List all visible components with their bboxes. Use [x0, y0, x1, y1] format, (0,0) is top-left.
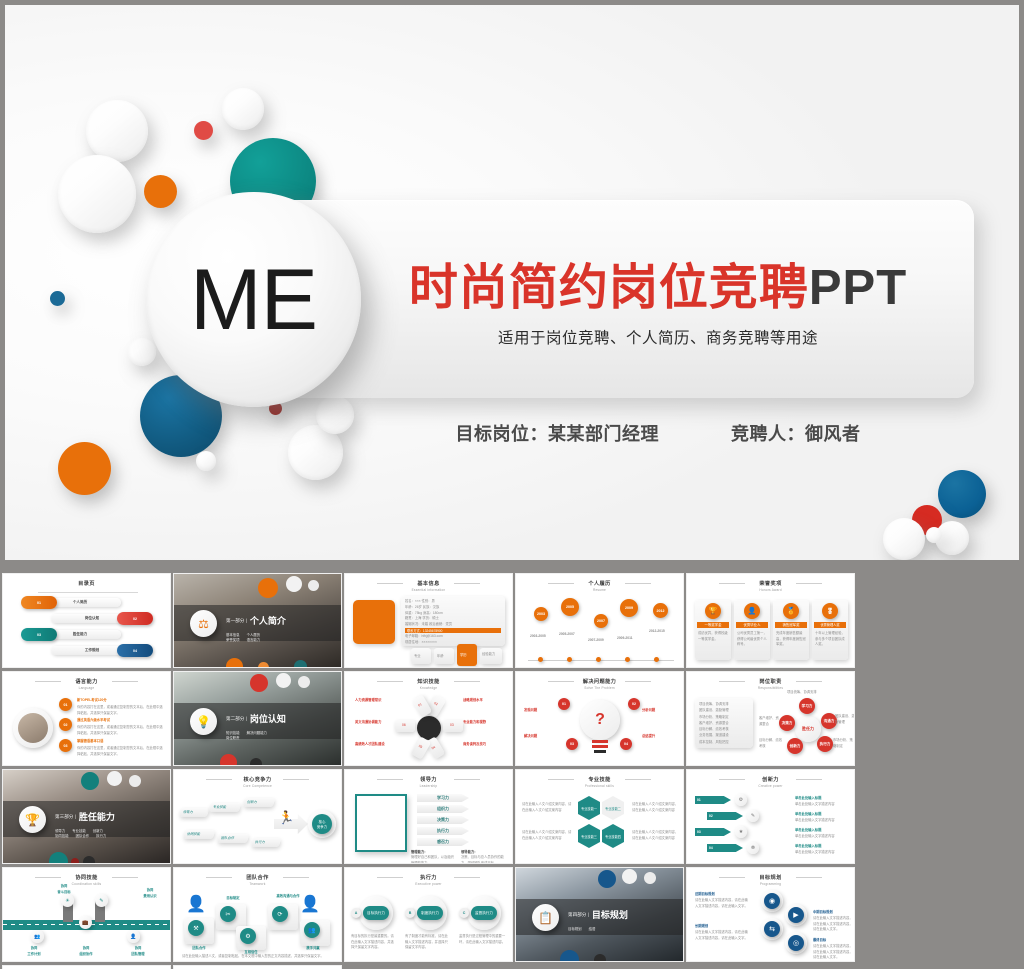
responsibility-note-3: 市场分析、策略制定	[833, 738, 855, 749]
responsibility-title: 岗位职责	[687, 678, 854, 685]
core-step-2[interactable]: 专业技能	[209, 803, 241, 812]
executive-header: 执行力 Executive power	[345, 874, 512, 886]
toc-item-4-label: 工作规划	[85, 648, 99, 653]
leadership-item-1[interactable]: 学习力	[417, 794, 469, 802]
coordination-label-4: 协同 团队管理	[121, 946, 155, 957]
divider-2-name: 岗位认知	[250, 712, 286, 725]
creative-icon-3: ★	[735, 826, 747, 838]
language-num-1: 01	[59, 698, 72, 711]
executive-letter-1: A	[351, 908, 361, 918]
divider-2-bullets: 知识技能解决问题能力 岗位职责	[226, 731, 286, 742]
decor-dot-orange	[258, 578, 278, 598]
resume-range-5: 2012-2015	[649, 629, 673, 635]
basic-tab-1[interactable]: 专业	[411, 648, 431, 664]
coordination-header: 协同技能 Coordination skills	[3, 874, 170, 886]
honors-rule-right	[796, 583, 822, 584]
responsibility-node-5: 决策力	[779, 715, 795, 731]
programming-desc-3: 请在此输入文字描述内容，请在此输入文字描述内容，请在此输入文字。	[695, 930, 751, 941]
teamwork-label-5: 高效沟通与合作	[266, 894, 310, 900]
thumbnail-knowledge[interactable]: 知识技能 Knowledge 02 03 04 05 06 01 人力资源管理常…	[344, 671, 513, 766]
executive-ring-2: 制度执行力	[413, 896, 447, 930]
knowledge-subtitle: Knowledge	[345, 686, 512, 690]
knowledge-petal-2[interactable]: 03	[443, 720, 463, 732]
executive-desc-1: 有目标的执行是最重要的。请在此输入文字描述内容，并选择只保留文字内容。	[351, 934, 397, 951]
problem-node-4: 04	[620, 738, 632, 750]
decor-circle-white-2	[222, 88, 264, 130]
programming-label-1: 近期目标规划	[695, 892, 751, 898]
thumbnail-resume[interactable]: 个人履历 Resume 2003 2005 2007 2009 2012 200…	[515, 573, 684, 668]
executive-rule-right	[454, 877, 480, 878]
honors-icon-4: 🎖	[822, 603, 838, 619]
decor-dot-red-2	[220, 754, 237, 766]
creative-label-3: 单击此处输入标题	[795, 828, 851, 834]
creative-rule-left	[719, 779, 745, 780]
thumbnail-divider-3[interactable]: 🏆 第三部分 |胜任能力 领导力专业技能创新力 协同技能团队合作执行力	[2, 769, 171, 864]
honors-card-4[interactable]: 🎖 优秀管理人奖 十年以上管理经验，参与多个项目团队成人奖。	[812, 600, 848, 660]
core-step-5[interactable]: 团队合作	[217, 834, 249, 843]
problem-node-3: 03	[566, 738, 578, 750]
decor-circle-white-10	[926, 527, 942, 543]
honors-label-3: 销售冠军奖	[775, 622, 807, 628]
programming-rule-left	[719, 877, 745, 878]
me-badge-label: ME	[190, 257, 317, 343]
professional-rule-left	[548, 779, 574, 780]
resume-pin-3: 2007	[594, 614, 608, 628]
creative-label-1: 单击此处输入标题	[795, 796, 851, 802]
decor-circle-blue-2	[938, 470, 986, 518]
basic-rule-right	[454, 583, 480, 584]
divider-4-part: 第四部分 |	[568, 912, 589, 918]
professional-hex-3[interactable]: 专业技能三	[578, 824, 600, 848]
decor-dot-red-1	[250, 674, 268, 692]
coordination-node-4[interactable]: ✎	[95, 894, 108, 907]
language-rule-left	[35, 681, 61, 682]
problem-node-2: 02	[628, 698, 640, 710]
decor-dot-white-f	[129, 775, 141, 787]
programming-node-3[interactable]: ⇆	[761, 918, 783, 940]
core-center: 核心 竞争力	[308, 810, 336, 838]
divider-1-text: 第一部分 |个人简介 基本信息个人履历 荣誉奖项语言能力	[226, 612, 286, 644]
executive-ring-1: 目标执行力	[359, 896, 393, 930]
programming-label-4: 最终目标	[813, 938, 853, 944]
resume-title: 个人履历	[516, 580, 683, 587]
resume-range-2: 2005-2007	[559, 632, 583, 638]
professional-desc-2: 请在此输入人文介绍文案内容，请在此输入人文介绍文案内容	[632, 802, 680, 813]
programming-subtitle: Programming	[687, 882, 854, 886]
leadership-header: 领导力 Leadership	[345, 776, 512, 788]
honors-rule-left	[719, 583, 745, 584]
executive-subtitle: Executive power	[345, 882, 512, 886]
responsibility-note-2: 团队建设、激励管理	[835, 714, 855, 725]
problem-title: 解决问题能力	[516, 678, 683, 685]
teamwork-note: 请在此处输入描述人文，或者复制粘贴。在本文框中输入您的正文内容描述，并选择只保留…	[182, 954, 334, 960]
thumbnail-problem[interactable]: 解决问题能力 Solve The Problem ? 01 02 03 04 发…	[515, 671, 684, 766]
responsibility-node-3: 执行力	[817, 736, 833, 752]
responsibility-rule-left	[719, 681, 745, 682]
decor-dot-white-b	[308, 580, 319, 591]
meta-position: 目标岗位：某某部门经理	[456, 420, 660, 446]
executive-badge-2: 制度执行力	[417, 906, 443, 920]
cup-icon: ⚖	[190, 610, 217, 637]
decor-dot-white-h	[644, 872, 656, 884]
professional-desc-3: 请在此输入人文介绍文案内容，请在此输入人文介绍文案内容	[522, 830, 572, 841]
programming-icon-3: ⇆	[764, 921, 780, 937]
creative-subtitle: Creative power	[687, 784, 854, 788]
honors-desc-1: 成绩优异，获得校级一等奖学金。	[698, 631, 728, 642]
knowledge-label-2: 专业能力和视野	[463, 720, 507, 726]
decor-circle-white-4	[128, 338, 156, 366]
responsibility-subtitle: Responsibilities	[687, 686, 854, 690]
divider-3-part: 第三部分 |	[55, 814, 76, 820]
knowledge-petal-6[interactable]: 01	[412, 694, 432, 717]
creative-icon-1: ⚙	[735, 794, 747, 806]
core-title: 核心竞争力	[174, 776, 341, 783]
decor-dot-white-e	[107, 771, 122, 786]
language-label-1: 新TOPEL考试120分	[77, 698, 165, 704]
decor-circle-blue-small	[50, 291, 65, 306]
thumbnail-coordination[interactable]: 协同技能 Coordination skills 👥 ☀ 💼 ✎ 👤 协同 工作…	[2, 867, 171, 962]
honors-label-4: 优秀管理人奖	[814, 622, 846, 628]
basic-rows-2: 电子邮箱：hfbj@163.com 现居住地：××××××××	[405, 634, 503, 646]
professional-hex-1[interactable]: 专业技能一	[578, 796, 600, 820]
problem-label-4: 总结提升	[642, 734, 672, 740]
honors-desc-2: 公司优秀员工第一，获得公司级优秀个人称号。	[737, 631, 767, 648]
responsibility-header: 岗位职责 Responsibilities	[687, 678, 854, 690]
knowledge-rule-right	[454, 681, 480, 682]
creative-header: 创新力 Creative power	[687, 776, 854, 788]
decor-circle-orange-1	[144, 175, 177, 208]
resume-rule-left	[548, 583, 574, 584]
language-desc-2: 你的内容打在这里，或者通过复制您的文本后，在此框中选择粘贴，并选择只保留文字。	[77, 725, 165, 736]
toc-title: 目录页	[3, 580, 170, 587]
programming-node-4[interactable]: ◎	[785, 932, 807, 954]
creative-num-2: 02	[709, 814, 713, 820]
honors-subtitle: Honors Award	[687, 588, 854, 592]
decor-dot-blue-1	[598, 870, 616, 888]
honors-header: 荣誉奖项 Honors Award	[687, 580, 854, 592]
leadership-rule-left	[377, 779, 403, 780]
divider-1-bullets: 基本信息个人履历 荣誉奖项语言能力	[226, 633, 286, 644]
decor-dot-white-d	[298, 676, 310, 688]
honors-desc-4: 十年以上管理经验，参与多个项目团队成人奖。	[815, 631, 845, 648]
responsibility-center-label: 胜任力	[802, 726, 814, 732]
leadership-item-5[interactable]: 感召力	[417, 838, 469, 846]
thumbnail-grid: 目录页 个人简历 01 岗位认知 02 胜任能力 03 工作规划 04	[0, 570, 1024, 969]
thumbnail-closing-words[interactable]: 结语 在这个美好的日子里，请允许我以这份热情，带着自信的心，感谢各位领导和同事给…	[2, 965, 171, 969]
core-center-inner: 核心 竞争力	[312, 814, 332, 834]
executive-desc-3: 监督执行是过程管理中的重要一环，请在此输入文字描述内容。	[459, 934, 507, 945]
programming-label-2: 中期目标规划	[813, 910, 853, 916]
honors-desc-3: 完成年度销售额最高，获得年度销售冠军奖。	[776, 631, 806, 648]
bulb-base-2	[592, 745, 608, 748]
programming-desc-4: 请在此输入文字描述内容，请在此输入文字描述内容，请在此输入文字。	[813, 944, 853, 961]
person-icon-left: 👤	[186, 894, 206, 914]
knowledge-title: 知识技能	[345, 678, 512, 685]
language-num-3: 03	[59, 739, 72, 752]
meta-person: 竞聘人：御风者	[731, 420, 861, 446]
problem-label-3: 解决问题	[524, 734, 554, 740]
problem-subtitle: Solve The Problem	[516, 686, 683, 690]
decor-circle-white-3	[58, 155, 136, 233]
thumbnail-language[interactable]: 语言能力 Language 01 新TOPEL考试120分 你的内容打在这里，或…	[2, 671, 171, 766]
core-step-6[interactable]: 执行力	[251, 838, 281, 847]
leadership-item-4[interactable]: 执行力	[417, 827, 469, 835]
creative-desc-2: 单击此处输入文字描述内容	[795, 818, 851, 824]
creative-desc-3: 单击此处输入文字描述内容	[795, 834, 851, 840]
divider-2-part: 第二部分 |	[226, 716, 247, 722]
thumbnail-divider-2[interactable]: 💡 第二部分 |岗位认知 知识技能解决问题能力 岗位职责	[173, 671, 342, 766]
professional-rule-right	[625, 779, 651, 780]
hero-top-border	[0, 0, 1024, 5]
teamwork-circle-4: ⟳	[272, 906, 288, 922]
programming-icon-2: ▶	[788, 907, 804, 923]
coordination-rule-right	[112, 877, 138, 878]
knowledge-petal-5[interactable]: 06	[395, 720, 415, 732]
divider-1-name: 个人简介	[250, 614, 286, 627]
resume-axis-dot-5	[654, 657, 659, 662]
executive-rule-left	[377, 877, 403, 878]
knowledge-rule-left	[377, 681, 403, 682]
divider-1-part: 第一部分 |	[226, 618, 247, 624]
basic-title: 基本信息	[345, 580, 512, 587]
language-subtitle: Language	[3, 686, 170, 690]
problem-label-2: 分析问题	[642, 708, 672, 714]
executive-badge-3: 监督执行力	[471, 906, 497, 920]
coordination-node-5[interactable]: 👤	[127, 930, 140, 943]
core-step-1[interactable]: 领导力	[179, 808, 209, 817]
executive-letter-3: C	[459, 908, 469, 918]
problem-rule-right	[625, 681, 651, 682]
toc-badge-1: 01	[21, 596, 57, 609]
coordination-rule-left	[35, 877, 61, 878]
core-rule-right	[283, 779, 309, 780]
hero-left-border	[0, 0, 5, 565]
divider-3-text: 第三部分 |胜任能力 领导力专业技能创新力 协同技能团队合作执行力	[55, 808, 115, 840]
photo-placeholder	[353, 600, 395, 644]
language-desc-3: 你的内容打在这里，或者通过复制您的文本后，在此框中选择粘贴，并选择只保留文字。	[77, 746, 165, 757]
thumbnail-divider-4[interactable]: 📋 第四部分 |目标规划 目标规划结语	[515, 867, 684, 962]
toc-header: 目录页	[3, 580, 170, 587]
resume-range-4: 2009-2011	[617, 636, 641, 642]
honors-icon-2: 👤	[744, 603, 760, 619]
teamwork-circle-1: ⚒	[188, 920, 204, 936]
executive-letter-2: B	[405, 908, 415, 918]
toc-badge-3: 03	[21, 628, 57, 641]
honors-card-1[interactable]: 🏆 一等奖学金 成绩优异，获得校级一等奖学金。	[695, 600, 731, 660]
executive-ring-3: 监督执行力	[467, 896, 501, 930]
coordination-label-5: 协同 费用认识	[133, 888, 167, 899]
thumbnail-creative[interactable]: 创新力 Creative power 01 02 03 04 ⚙ ✎ ★ ☸ 单…	[686, 769, 855, 864]
resume-range-3: 2007-2009	[588, 638, 612, 644]
page-title-cn: 时尚简约岗位竞聘	[409, 261, 809, 315]
coordination-node-2[interactable]: ☀	[61, 894, 74, 907]
thumbnail-executive[interactable]: 执行力 Executive power 目标执行力 A 制度执行力 B 监督执行…	[344, 867, 513, 962]
professional-hex-2[interactable]: 专业技能二	[602, 796, 624, 820]
basic-rows: 姓名：××× 性别：男 年龄：26岁 民族：汉族 体重：75kg 身高：180c…	[405, 599, 503, 628]
honors-card-2[interactable]: 👤 优秀毕业人 公司优秀员工第一，获得公司级优秀个人称号。	[734, 600, 770, 660]
responsibility-note-4: 客户维护、资源整合	[759, 716, 781, 727]
professional-desc-4: 请在此输入人文介绍文案内容，请在此输入人文介绍文案内容	[632, 830, 680, 841]
programming-rule-right	[796, 877, 822, 878]
creative-title: 创新力	[687, 776, 854, 783]
problem-label-1: 发现问题	[524, 708, 554, 714]
professional-subtitle: Professional skills	[516, 784, 683, 788]
decor-circle-white-1	[86, 100, 148, 162]
creative-desc-4: 单击此处输入文字描述内容	[795, 850, 851, 856]
professional-header: 专业技能 Professional skills	[516, 776, 683, 788]
divider-4-text: 第四部分 |目标规划 目标规划结语	[568, 906, 628, 932]
thumbnail-core-competence[interactable]: 核心竞争力 Core Competence 领导力 专业技能 创新力 协同技能 …	[173, 769, 342, 864]
core-step-4[interactable]: 协同技能	[183, 830, 215, 839]
teamwork-rule-left	[206, 877, 232, 878]
honors-title: 荣誉奖项	[687, 580, 854, 587]
leadership-title: 领导力	[345, 776, 512, 783]
thumbnail-basic-info[interactable]: 基本信息 Essential information 姓名：××× 性别：男 年…	[344, 573, 513, 668]
resume-subtitle: Resume	[516, 588, 683, 592]
decor-dot-teal-1	[294, 660, 307, 668]
runner-icon: 🏃	[278, 810, 294, 826]
decor-dot-teal-3	[49, 852, 68, 864]
decor-dot-orange-2	[226, 658, 243, 668]
leadership-frame	[355, 794, 407, 852]
problem-header: 解决问题能力 Solve The Problem	[516, 678, 683, 690]
creative-num-1: 01	[697, 798, 701, 804]
creative-label-2: 单击此处输入标题	[795, 812, 851, 818]
leadership-note-1-desc: 管理好自己和团队，以及组织管理的能力。	[411, 855, 455, 864]
creative-desc-1: 单击此处输入文字描述内容	[795, 802, 851, 808]
language-num-2: 02	[59, 718, 72, 731]
divider-4-bullets: 目标规划结语	[568, 927, 628, 932]
thumbnail-honors[interactable]: 荣誉奖项 Honors Award 🏆 一等奖学金 成绩优异，获得校级一等奖学金…	[686, 573, 855, 668]
teamwork-label-2: 携手共赢	[296, 946, 330, 952]
language-label-2: 通过英语六级水平考试	[77, 718, 165, 724]
programming-node-2[interactable]: ▶	[785, 904, 807, 926]
clipboard-icon: 📋	[532, 904, 559, 931]
language-desc-1: 你的内容打在这里，或者通过复制您的文本后，在此框中选择粘贴，并选择只保留文字。	[77, 705, 165, 716]
decor-dot-dark-2	[83, 856, 95, 864]
decor-dot-white-c	[276, 673, 291, 688]
honors-card-3[interactable]: 🏅 销售冠军奖 完成年度销售额最高，获得年度销售冠军奖。	[773, 600, 809, 660]
me-badge[interactable]: ME	[146, 192, 361, 407]
honors-icon-1: 🏆	[705, 603, 721, 619]
programming-desc-1: 请在此输入文字描述内容，请在此输入文字描述内容，请在此输入文字。	[695, 898, 751, 909]
resume-header: 个人履历 Resume	[516, 580, 683, 592]
leadership-rule-right	[454, 779, 480, 780]
creative-num-3: 03	[697, 830, 701, 836]
decor-dot-orange-3	[258, 662, 269, 668]
decor-dot-dark-1	[250, 758, 262, 766]
problem-rule-left	[548, 681, 574, 682]
resume-pin-4: 2009	[620, 599, 638, 617]
thumbnail-responsibility[interactable]: 岗位职责 Responsibilities 项目统筹、协调安排 团队建设、激励管…	[686, 671, 855, 766]
professional-hex-4[interactable]: 专业技能四	[602, 824, 624, 848]
teamwork-rule-right	[283, 877, 309, 878]
thumbnail-leadership[interactable]: 领导力 Leadership 学习力 组织力 决策力 执行力 感召力 管理能力：…	[344, 769, 513, 864]
creative-icon-4: ☸	[747, 842, 759, 854]
core-header: 核心竞争力 Core Competence	[174, 776, 341, 788]
language-label-3: 掌握德语基本口语	[77, 739, 165, 745]
basic-tab-2[interactable]: 年龄	[434, 648, 454, 664]
resume-axis-dot-4	[625, 657, 630, 662]
language-title: 语言能力	[3, 678, 170, 685]
core-step-3[interactable]: 创新力	[243, 798, 275, 807]
coordination-node-1[interactable]: 👥	[31, 930, 44, 943]
responsibility-node-1: 学习力	[799, 698, 815, 714]
decor-circle-red-1	[194, 121, 213, 140]
knowledge-label-5: 英文沟通协调能力	[355, 720, 397, 726]
responsibility-rule-right	[796, 681, 822, 682]
resume-axis	[528, 660, 674, 661]
bulb-base	[592, 740, 608, 743]
divider-4-name: 目标规划	[592, 908, 628, 921]
executive-title: 执行力	[345, 874, 512, 881]
programming-node-1[interactable]: ◉	[761, 890, 783, 912]
toc-badge-4: 04	[117, 644, 153, 657]
core-subtitle: Core Competence	[174, 784, 341, 788]
thumbnail-professional[interactable]: 专业技能 Professional skills 专业技能一 专业技能二 专业技…	[515, 769, 684, 864]
language-rule-right	[112, 681, 138, 682]
programming-title: 目标规划	[687, 874, 854, 881]
thumbnail-ending[interactable]: ME 介绍完毕 谢谢聆听 适用于岗位竞聘、个人简历、商务竞聘等用途	[173, 965, 342, 969]
resume-pin-5: 2012	[653, 603, 668, 618]
professional-title: 专业技能	[516, 776, 683, 783]
creative-label-4: 单击此处输入标题	[795, 844, 851, 850]
page-title: 时尚简约岗位竞聘PPT	[338, 248, 978, 319]
core-rule-left	[206, 779, 232, 780]
knowledge-label-4: 高绩效人才团队建设	[355, 742, 397, 748]
coordination-label-2: 协同 奋斗目标	[47, 884, 81, 895]
toc-item-3-label: 胜任能力	[73, 632, 87, 637]
responsibility-node-4: 创新力	[787, 738, 803, 754]
thumbnail-teamwork[interactable]: 团队合作 Teamwork 👤 👤 ⚒ ✂ ⚙ ⟳ 👥 目标制定 高效沟通与合作…	[173, 867, 342, 962]
honors-label-1: 一等奖学金	[697, 622, 729, 628]
teamwork-circle-2: ✂	[220, 906, 236, 922]
thumbnail-divider-1[interactable]: ⚖ 第一部分 |个人简介 基本信息个人履历 荣誉奖项语言能力	[173, 573, 342, 668]
basic-highlight-row: 联系方式：13245678900	[405, 628, 501, 633]
divider-2-text: 第二部分 |岗位认知 知识技能解决问题能力 岗位职责	[226, 710, 286, 742]
resume-rule-right	[625, 583, 651, 584]
coordination-title: 协同技能	[3, 874, 170, 881]
honors-icon-3: 🏅	[783, 603, 799, 619]
resume-axis-dot-3	[596, 657, 601, 662]
basic-tab-3[interactable]: 学历	[457, 644, 477, 666]
decor-circle-white-5	[196, 451, 216, 471]
programming-icon-4: ◎	[788, 935, 804, 951]
decor-dot-teal-2	[81, 772, 99, 790]
leadership-subtitle: Leadership	[345, 784, 512, 788]
honors-label-2: 优秀毕业人	[736, 622, 768, 628]
knowledge-label-6: 人力资源管理常识	[355, 698, 397, 704]
teamwork-circle-3: ⚙	[240, 928, 256, 944]
hero-slide[interactable]: ME 时尚简约岗位竞聘PPT 适用于岗位竞聘、个人简历、商务竞聘等用途 目标岗位…	[0, 0, 1024, 565]
decor-dot-red-3	[71, 858, 79, 864]
teamwork-label-3: 目标制定	[216, 896, 250, 902]
basic-tab-4[interactable]: 经验能力	[480, 648, 502, 664]
leadership-item-2[interactable]: 组织力	[417, 805, 469, 813]
coordination-node-3[interactable]: 💼	[79, 916, 92, 929]
teamwork-subtitle: Teamwork	[174, 882, 341, 886]
leadership-item-3[interactable]: 决策力	[417, 816, 469, 824]
coordination-label-1: 协同 工作计划	[17, 946, 51, 957]
thumbnail-toc[interactable]: 目录页 个人简历 01 岗位认知 02 胜任能力 03 工作规划 04	[2, 573, 171, 668]
decor-circle-orange-2	[58, 442, 111, 495]
thumbnail-programming[interactable]: 目标规划 Programming ◉ ▶ ⇆ ◎ 近期目标规划 请在此输入文字描…	[686, 867, 855, 962]
coordination-label-3: 协同 组织协作	[69, 946, 103, 957]
meta-row: 目标岗位：某某部门经理 竞聘人：御风者	[338, 420, 978, 446]
decor-dot-blue-2	[560, 950, 579, 962]
language-photo-circle	[13, 708, 53, 748]
toc-rule	[38, 592, 138, 593]
